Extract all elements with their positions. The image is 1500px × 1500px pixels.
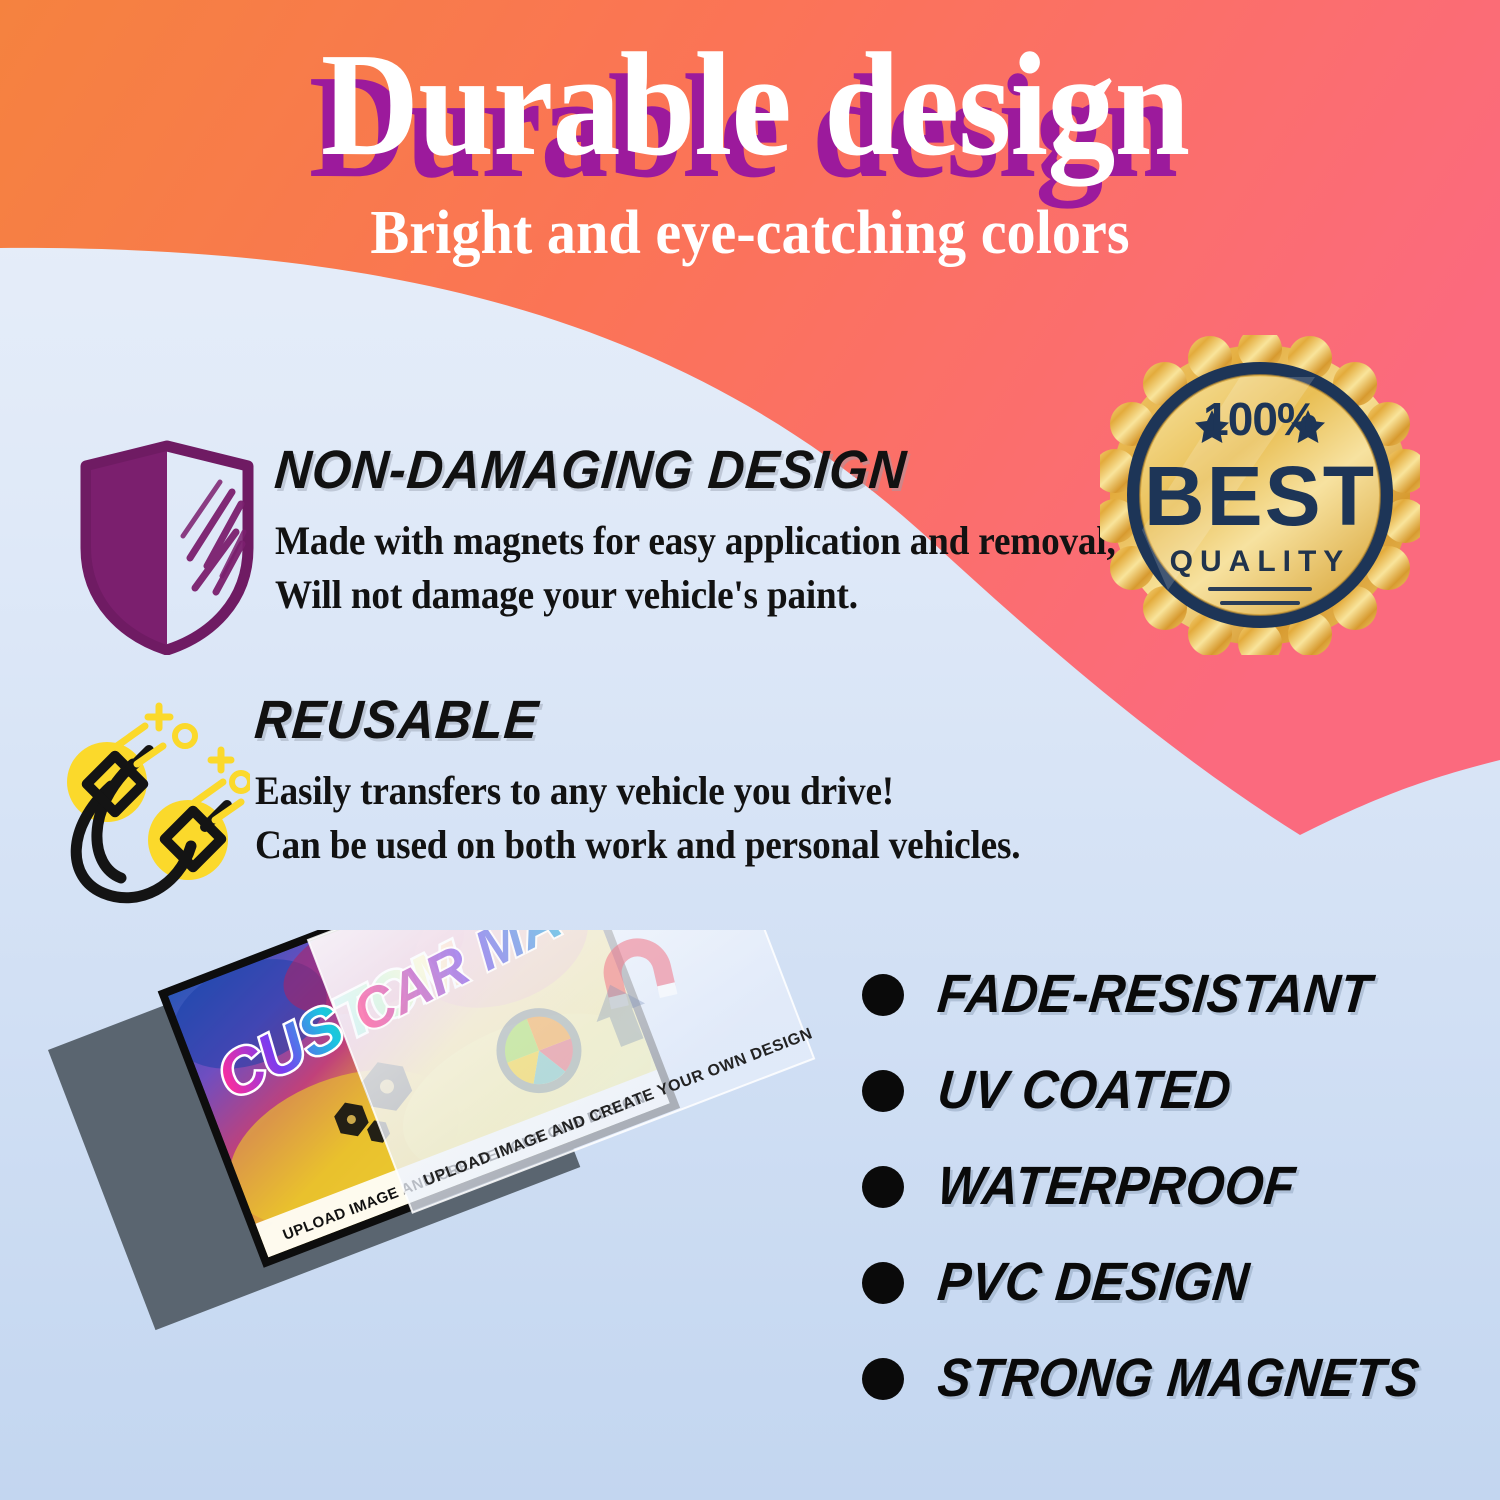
page-title-main: Durable design <box>70 30 1441 180</box>
feature-body: NON-DAMAGING DESIGN Made with magnets fo… <box>275 440 1179 622</box>
feature-line: Will not damage your vehicle's paint. <box>275 568 1116 622</box>
best-quality-badge: 100% BEST QUALITY <box>1100 335 1420 655</box>
benefits-list: FADE-RESISTANT UV COATED WATERPROOF PVC … <box>862 946 1482 1426</box>
poster-root: Durable design Durable design Bright and… <box>0 0 1500 1500</box>
list-item: FADE-RESISTANT <box>862 946 1482 1042</box>
svg-text:100%: 100% <box>1203 393 1317 445</box>
feature-icon-slot <box>40 690 255 905</box>
shield-icon <box>70 440 265 655</box>
feature-line: Easily transfers to any vehicle you driv… <box>255 764 1041 818</box>
page-subtitle: Bright and eye-catching colors <box>45 200 1455 266</box>
page-title: Durable design Durable design <box>0 30 1500 195</box>
list-item: UV COATED <box>862 1042 1482 1138</box>
list-item-label: UV COATED <box>935 1061 1234 1119</box>
list-item: WATERPROOF <box>862 1138 1482 1234</box>
header: Durable design Durable design Bright and… <box>0 30 1500 195</box>
feature-line: Can be used on both work and personal ve… <box>255 818 1041 872</box>
magnet-icon <box>45 690 250 905</box>
feature-body: REUSABLE Easily transfers to any vehicle… <box>255 690 1100 872</box>
list-item-label: STRONG MAGNETS <box>935 1349 1422 1407</box>
feature-heading: REUSABLE <box>253 690 1044 750</box>
feature-line: Made with magnets for easy application a… <box>275 514 1116 568</box>
svg-text:BEST: BEST <box>1144 449 1376 543</box>
svg-text:QUALITY: QUALITY <box>1170 545 1351 578</box>
product-image: CUSTOM UPLOAD IMAGE AND CREATE YOUR OWN … <box>40 930 820 1460</box>
feature-non-damaging: NON-DAMAGING DESIGN Made with magnets fo… <box>60 440 1120 655</box>
feature-icon-slot <box>60 440 275 655</box>
feature-heading: NON-DAMAGING DESIGN <box>273 440 1118 500</box>
bullet-dot-icon <box>862 1070 904 1112</box>
list-item: PVC DESIGN <box>862 1234 1482 1330</box>
list-item-label: WATERPROOF <box>935 1157 1298 1215</box>
bullet-dot-icon <box>862 1358 904 1400</box>
list-item-label: FADE-RESISTANT <box>935 965 1374 1023</box>
list-item: STRONG MAGNETS <box>862 1330 1482 1426</box>
bullet-dot-icon <box>862 1262 904 1304</box>
bullet-dot-icon <box>862 1166 904 1208</box>
list-item-label: PVC DESIGN <box>935 1253 1252 1311</box>
bullet-dot-icon <box>862 974 904 1016</box>
feature-reusable: REUSABLE Easily transfers to any vehicle… <box>40 690 1100 905</box>
